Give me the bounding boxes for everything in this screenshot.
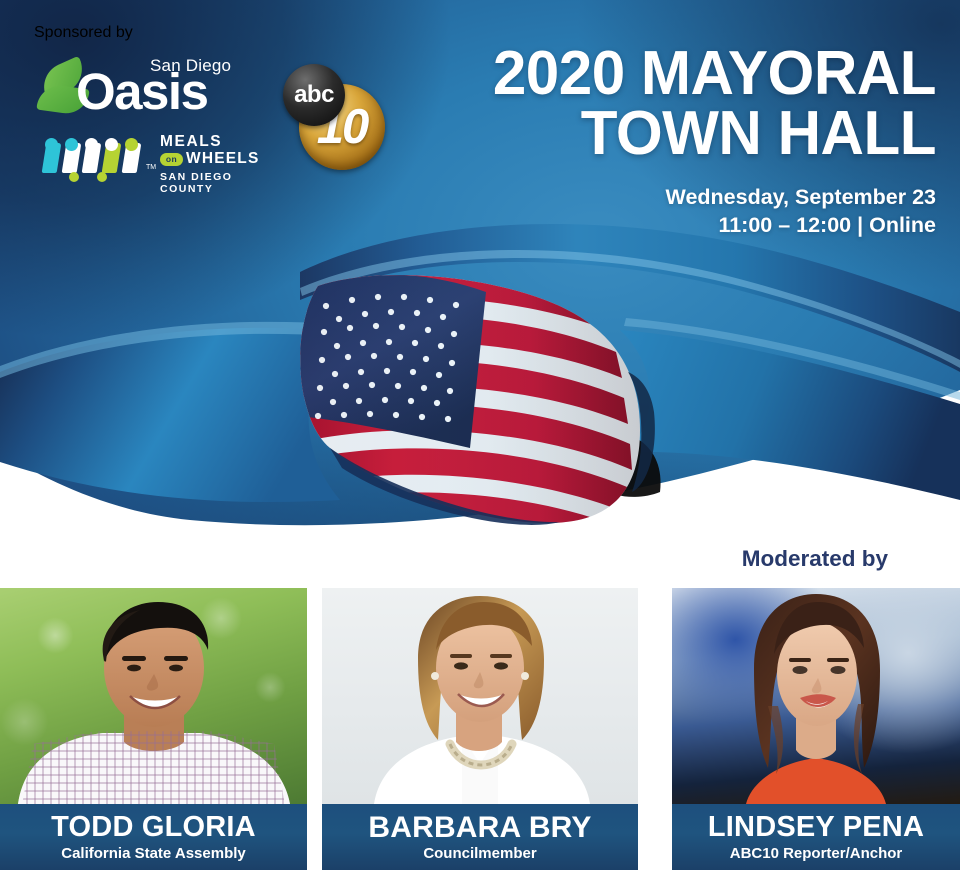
san-diego-oasis-logo: San Diego Oasis bbox=[38, 56, 258, 126]
participant-role: ABC10 Reporter/Anchor bbox=[730, 846, 903, 861]
participant-card-todd-gloria: TODD GLORIA California State Assembly bbox=[0, 588, 307, 870]
event-details: Wednesday, September 23 11:00 – 12:00 | … bbox=[376, 183, 936, 240]
participant-namebar: TODD GLORIA California State Assembly bbox=[0, 804, 307, 870]
participant-name: TODD GLORIA bbox=[51, 813, 256, 843]
mow-trademark: TM bbox=[146, 164, 156, 171]
event-date: Wednesday, September 23 bbox=[376, 183, 936, 211]
town-hall-poster: Sponsored by San Diego Oasis bbox=[0, 0, 960, 870]
sponsor-logo-row: San Diego Oasis bbox=[34, 50, 394, 210]
participant-photo bbox=[672, 588, 960, 804]
participant-role: California State Assembly bbox=[61, 846, 246, 861]
sponsor-block: Sponsored by San Diego Oasis bbox=[34, 24, 394, 210]
title-block: 2020 MAYORAL TOWN HALL Wednesday, Septem… bbox=[376, 44, 936, 240]
mow-line-meals: MEALS bbox=[160, 134, 290, 151]
meals-on-wheels-logo: TM MEALS on WHEELS SAN DIEGO COUNTY bbox=[42, 134, 282, 186]
mow-figures-icon bbox=[42, 136, 154, 182]
participant-photo bbox=[322, 588, 638, 804]
page-title-line-1: 2020 MAYORAL bbox=[393, 44, 936, 104]
participant-namebar: LINDSEY PENA ABC10 Reporter/Anchor bbox=[672, 804, 960, 870]
sponsored-by-label: Sponsored by bbox=[34, 24, 394, 42]
participant-photo bbox=[0, 588, 307, 804]
abc-text: abc bbox=[283, 64, 345, 126]
participant-name: BARBARA BRY bbox=[368, 813, 591, 844]
mow-on-badge: on bbox=[160, 153, 183, 166]
moderated-by-label: Moderated by bbox=[742, 546, 888, 572]
participant-name: LINDSEY PENA bbox=[708, 813, 924, 843]
participant-role: Councilmember bbox=[423, 846, 536, 861]
participant-card-barbara-bry: BARBARA BRY Councilmember bbox=[322, 588, 638, 870]
mow-text-block: MEALS on WHEELS SAN DIEGO COUNTY bbox=[160, 134, 290, 195]
participant-namebar: BARBARA BRY Councilmember bbox=[322, 804, 638, 870]
oasis-wordmark: Oasis bbox=[76, 66, 207, 117]
participants-row: TODD GLORIA California State Assembly bbox=[0, 588, 960, 870]
event-time-location: 11:00 – 12:00 | Online bbox=[376, 211, 936, 239]
participant-card-lindsey-pena: LINDSEY PENA ABC10 Reporter/Anchor bbox=[672, 588, 960, 870]
mow-wheels-text: WHEELS bbox=[186, 150, 260, 167]
mow-line-wheels: on WHEELS bbox=[160, 151, 290, 168]
page-title-line-2: TOWN HALL bbox=[393, 104, 936, 164]
mow-line-county: SAN DIEGO COUNTY bbox=[160, 171, 290, 195]
